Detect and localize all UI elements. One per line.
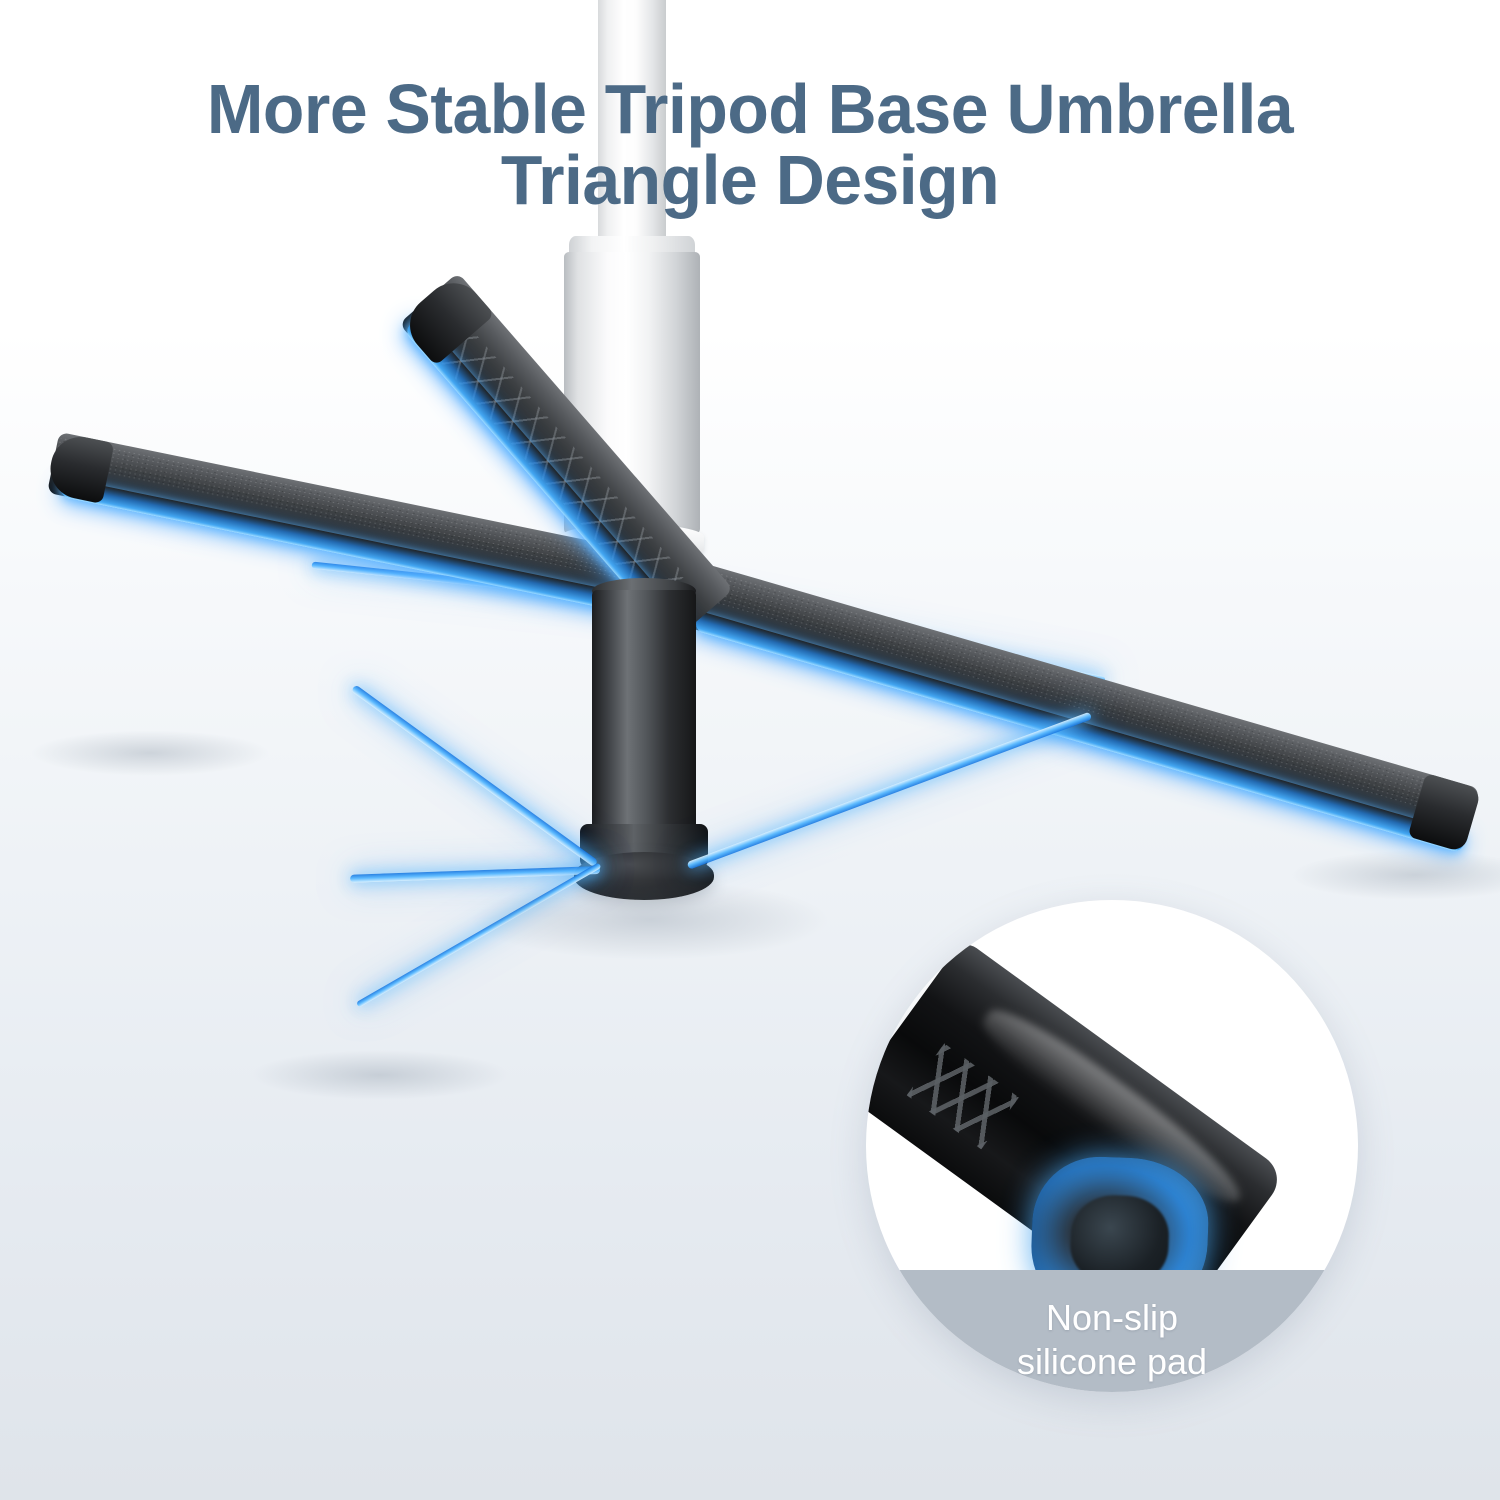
telescoping-pole-upper (598, 0, 666, 240)
triangle-brace-front-lower (351, 684, 598, 867)
center-hub-cylinder (592, 590, 696, 860)
left-leg-shadow (30, 730, 270, 776)
callout-circle: Non-slip silicone pad (866, 900, 1358, 1392)
right-leg-shadow (1290, 850, 1500, 900)
tripod-leg-right (679, 561, 1480, 852)
callout-caption: Non-slip silicone pad (866, 1296, 1358, 1384)
callout-caption-line-1: Non-slip (866, 1296, 1358, 1340)
front-leg-shadow (250, 1050, 510, 1100)
callout-caption-line-2: silicone pad (866, 1340, 1358, 1384)
triangle-brace-right-lower (687, 712, 1093, 870)
triangle-brace-left-lower (350, 866, 600, 883)
hub-shadow (470, 880, 830, 960)
product-feature-image: More Stable Tripod Base Umbrella Triangl… (0, 0, 1500, 1500)
right-leg-texture (687, 565, 1478, 823)
